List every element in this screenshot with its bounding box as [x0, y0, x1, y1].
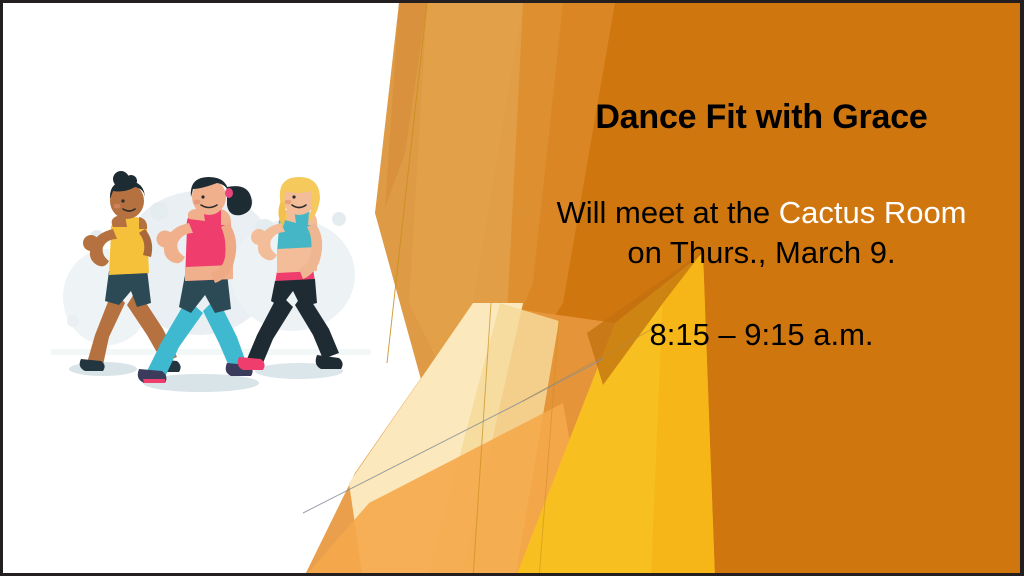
body-line-time: 8:15 – 9:15 a.m.: [503, 315, 1020, 355]
body-line-location: Will meet at the Cactus Room: [503, 193, 1020, 233]
exercise-illustration: [51, 171, 371, 401]
slide-text-block: Dance Fit with Grace Will meet at the Ca…: [503, 3, 1020, 573]
body-text-prefix: Will meet at the: [556, 195, 778, 230]
page-title: Dance Fit with Grace: [503, 99, 1020, 136]
presentation-slide: Dance Fit with Grace Will meet at the Ca…: [0, 0, 1024, 576]
body-line-date: on Thurs., March 9.: [503, 233, 1020, 273]
room-name-highlight: Cactus Room: [779, 195, 967, 230]
